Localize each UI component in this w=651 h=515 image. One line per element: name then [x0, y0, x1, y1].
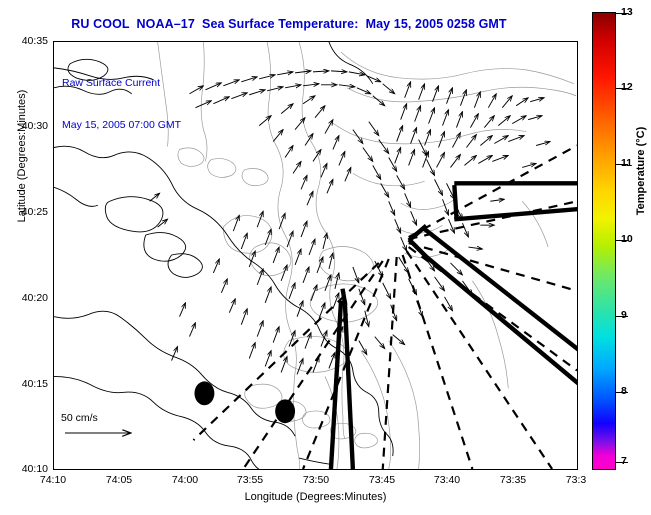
x-tick-label-2: 74:00 [157, 474, 213, 486]
colorbar-label-2: 11 [621, 157, 632, 169]
scale-bar: 50 cm/s [61, 412, 141, 447]
x-tick-label-6: 73:40 [419, 474, 475, 486]
x-tick-label-5: 73:45 [354, 474, 410, 486]
figure-title: RU COOL NOAA–17 Sea Surface Temperature:… [0, 17, 578, 31]
annotation-line-1: Raw Surface Current [62, 76, 181, 90]
x-tick-label-4: 73:50 [288, 474, 344, 486]
scale-bar-arrow-icon [61, 424, 141, 442]
annotation-line-2: May 15, 2005 07:00 GMT [62, 118, 181, 132]
x-tick-label-7: 73:35 [485, 474, 541, 486]
x-tick-label-3: 73:55 [222, 474, 278, 486]
y-tick-label-4: 40:15 [2, 378, 48, 390]
x-axis-title: Longitude (Degrees:Minutes) [53, 491, 578, 503]
y-tick-label-3: 40:20 [2, 292, 48, 304]
y-axis-title: Latitude (Degrees:Minutes) [16, 26, 28, 286]
colorbar-label-4: 9 [621, 309, 627, 321]
bathymetry-contours [158, 42, 576, 469]
colorbar[interactable] [592, 12, 616, 470]
scale-bar-label: 50 cm/s [61, 412, 141, 424]
colorbar-label-3: 10 [621, 233, 633, 245]
surface-current-vectors [150, 71, 550, 375]
station-markers [194, 381, 295, 423]
colorbar-label-1: 12 [621, 81, 633, 93]
figure-root: RU COOL NOAA–17 Sea Surface Temperature:… [0, 0, 651, 515]
colorbar-label-6: 7 [621, 455, 627, 467]
plot-annotation: Raw Surface Current May 15, 2005 07:00 G… [62, 48, 181, 160]
colorbar-label-5: 8 [621, 385, 627, 397]
colorbar-label-0: 13 [621, 6, 633, 18]
radial-lines [193, 146, 577, 469]
x-tick-label-8: 73:3 [548, 474, 604, 486]
colorbar-title: Temperature (°C) [635, 91, 647, 251]
x-tick-label-0: 74:10 [25, 474, 81, 486]
x-tick-label-1: 74:05 [91, 474, 147, 486]
transect-lines [331, 183, 577, 469]
map-plot-area[interactable]: Raw Surface Current May 15, 2005 07:00 G… [53, 41, 578, 470]
